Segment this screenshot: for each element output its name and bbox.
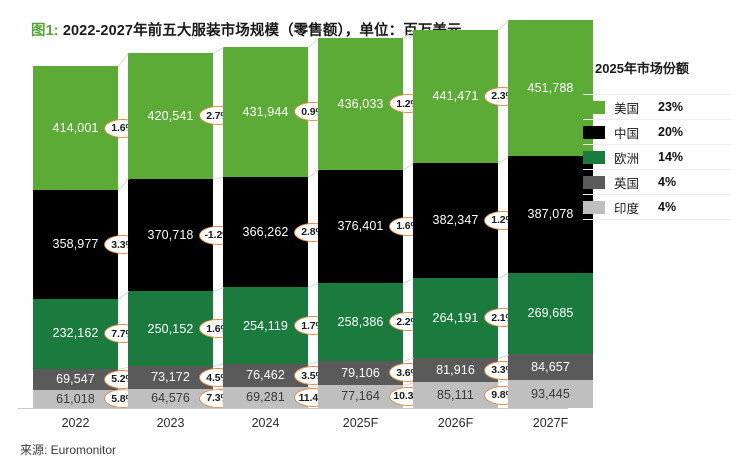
bar-segment-欧洲-2027F: 269,685 <box>508 273 593 354</box>
legend-item-label: 英国 <box>614 173 658 192</box>
legend-item-value: 23% <box>658 100 683 114</box>
bar-column-2022: 61,01869,547232,162358,977414,001 <box>33 66 118 408</box>
legend-item-中国: 中国20% <box>583 120 731 145</box>
legend: 2025年市场份额 美国23%中国20%欧洲14%英国4%印度4% <box>583 58 731 220</box>
bar-value-label: 431,944 <box>243 106 289 119</box>
segment-boundary-connector <box>403 358 413 362</box>
x-axis-label-2022: 2022 <box>33 416 118 430</box>
segment-boundary-connector <box>308 283 318 288</box>
bar-value-label: 254,119 <box>243 320 288 333</box>
bar-value-label: 69,281 <box>246 391 285 404</box>
bar-segment-英国-2027F: 84,657 <box>508 354 593 380</box>
segment-boundary-connector <box>498 273 508 279</box>
source-note: 来源: Euromonitor <box>20 441 116 458</box>
bar-value-label: 79,106 <box>341 367 380 380</box>
segment-boundary-connector <box>213 177 223 180</box>
segment-boundary-connector <box>308 361 318 365</box>
legend-item-value: 4% <box>658 175 676 189</box>
legend-swatch-icon <box>583 176 605 189</box>
bar-value-label: 258,386 <box>338 316 384 329</box>
segment-boundary-connector <box>403 278 413 284</box>
bar-value-label: 69,547 <box>56 373 95 386</box>
legend-swatch-icon <box>583 101 605 114</box>
bar-value-label: 387,078 <box>528 208 574 221</box>
chart-page: 图1: 2022-2027年前五大服装市场规模（零售额），单位：百万美元 61,… <box>0 0 731 471</box>
bar-value-label: 64,576 <box>151 392 190 405</box>
bar-value-label: 358,977 <box>53 238 99 251</box>
segment-boundary-connector <box>308 170 319 178</box>
legend-item-value: 4% <box>658 200 676 214</box>
bar-value-label: 250,152 <box>148 323 194 336</box>
segment-boundary-connector <box>498 380 508 383</box>
title-text: 2022-2027年前五大服装市场规模（零售额），单位：百万美元 <box>63 23 462 39</box>
bar-value-label: 366,262 <box>243 226 289 239</box>
x-axis-label-2024: 2024 <box>223 416 308 430</box>
legend-item-value: 14% <box>658 150 683 164</box>
legend-item-英国: 英国4% <box>583 170 731 195</box>
bar-value-label: 436,033 <box>338 98 384 111</box>
segment-boundary-connector <box>498 354 508 358</box>
legend-swatch-icon <box>583 201 605 214</box>
bar-value-label: 76,462 <box>246 369 285 382</box>
legend-item-label: 印度 <box>614 198 658 217</box>
legend-item-value: 20% <box>658 125 683 139</box>
bar-segment-美国-2027F: 451,788 <box>508 20 593 156</box>
bar-value-label: 269,685 <box>528 307 574 320</box>
legend-item-印度: 印度4% <box>583 195 731 220</box>
bar-value-label: 93,445 <box>531 388 570 401</box>
legend-rows: 美国23%中国20%欧洲14%英国4%印度4% <box>583 94 731 220</box>
bar-value-label: 81,916 <box>436 364 475 377</box>
bar-segment-印度-2027F: 93,445 <box>508 380 593 408</box>
legend-swatch-icon <box>583 126 605 139</box>
bar-value-label: 441,471 <box>433 90 479 103</box>
segment-boundary-connector <box>403 163 414 171</box>
bar-value-label: 376,401 <box>338 220 384 233</box>
segment-boundary-connector <box>118 291 129 299</box>
stacked-bar-chart: 61,01869,547232,162358,977414,00120225.8… <box>0 40 580 410</box>
bar-value-label: 77,164 <box>341 390 380 403</box>
legend-item-label: 中国 <box>614 123 658 142</box>
bar-value-label: 61,018 <box>56 393 95 406</box>
segment-boundary-connector <box>498 156 509 163</box>
bar-value-label: 85,111 <box>437 389 474 402</box>
x-axis-line <box>18 408 568 409</box>
page-title: 图1: 2022-2027年前五大服装市场规模（零售额），单位：百万美元 <box>31 19 462 40</box>
legend-item-label: 美国 <box>614 98 658 117</box>
bar-column-2027F: 93,44584,657269,685387,078451,788 <box>508 20 593 408</box>
bar-value-label: 73,172 <box>151 371 190 384</box>
x-axis-label-2025F: 2025F <box>318 416 403 430</box>
legend-item-label: 欧洲 <box>614 148 658 167</box>
x-axis-label-2023: 2023 <box>128 416 213 430</box>
bar-value-label: 414,001 <box>53 122 99 135</box>
bar-value-label: 84,657 <box>531 361 570 374</box>
bar-value-label: 264,191 <box>433 312 479 325</box>
bar-value-label: 420,541 <box>148 110 194 123</box>
x-axis-label-2027F: 2027F <box>508 416 593 430</box>
segment-boundary-connector <box>403 382 413 385</box>
figure-number: 图1: <box>31 23 59 39</box>
x-axis-label-2026F: 2026F <box>413 416 498 430</box>
legend-item-美国: 美国23% <box>583 94 731 120</box>
bar-top-connector <box>213 47 223 54</box>
segment-boundary-connector <box>213 364 223 367</box>
bar-value-label: 451,788 <box>528 82 574 95</box>
segment-boundary-connector <box>213 287 223 292</box>
bar-value-label: 382,347 <box>433 214 479 227</box>
legend-title: 2025年市场份额 <box>595 58 731 77</box>
legend-swatch-icon <box>583 151 605 164</box>
bar-value-label: 370,718 <box>148 229 194 242</box>
legend-item-欧洲: 欧洲14% <box>583 145 731 170</box>
bar-segment-中国-2027F: 387,078 <box>508 156 593 273</box>
bar-value-label: 232,162 <box>53 327 99 340</box>
